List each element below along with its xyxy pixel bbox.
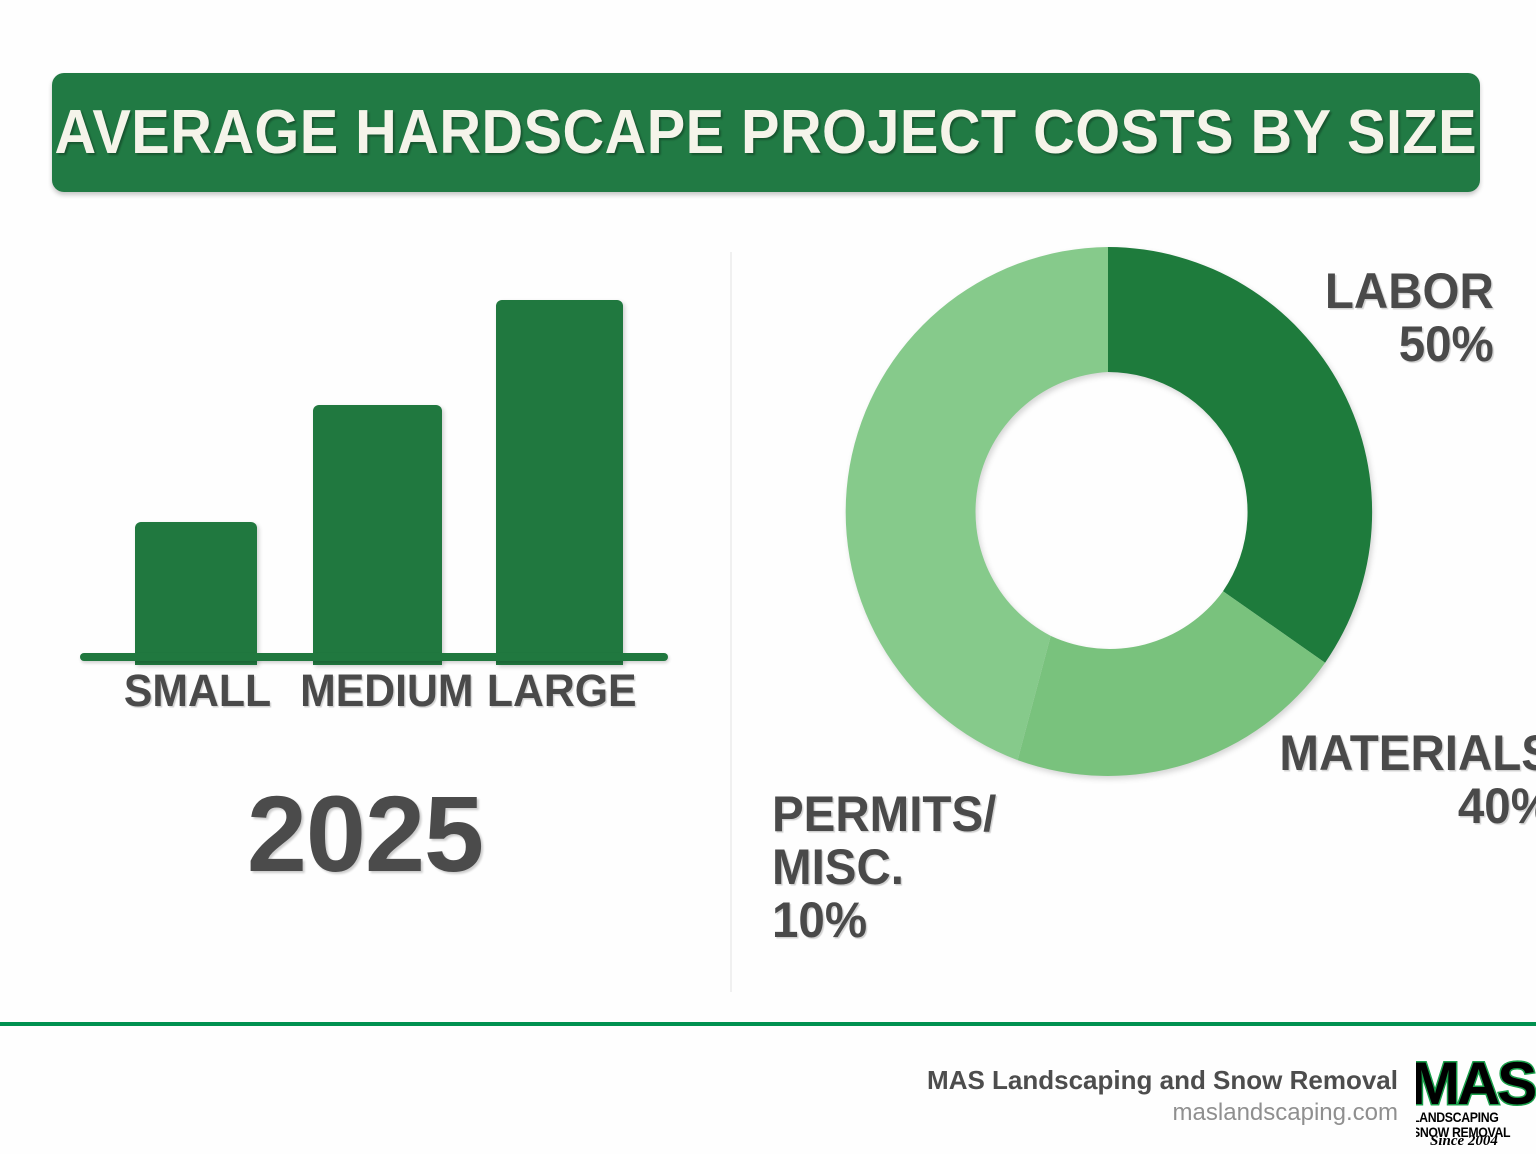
donut-label-materials: MATERIALS 40%	[1279, 727, 1536, 833]
donut-label-labor-name: LABOR	[1325, 265, 1494, 318]
bar-large	[496, 300, 623, 665]
mas-logo: MAS LANDSCAPING SNOW REMOVAL Since 2004	[1416, 1058, 1536, 1150]
donut-label-permits: PERMITS/ MISC. 10%	[772, 788, 996, 947]
mas-logo-tagline: Since 2004	[1430, 1134, 1498, 1149]
donut-label-materials-value: 40%	[1279, 780, 1536, 833]
donut-label-labor: LABOR 50%	[1325, 265, 1494, 371]
bar-chart-plot	[0, 240, 730, 665]
donut-label-permits-name-line1: PERMITS/	[772, 788, 996, 841]
year-label: 2025	[0, 780, 730, 888]
donut-label-labor-value: 50%	[1325, 318, 1494, 371]
mas-logo-inner: MAS LANDSCAPING SNOW REMOVAL Since 2004	[1416, 1058, 1536, 1150]
donut-label-permits-name-line2: MISC.	[772, 841, 996, 894]
donut-label-materials-name: MATERIALS	[1279, 727, 1536, 780]
donut-label-permits-value: 10%	[772, 894, 996, 947]
bar-small	[135, 522, 257, 665]
page-title: AVERAGE HARDSCAPE PROJECT COSTS BY SIZE	[55, 102, 1478, 164]
footer: MAS Landscaping and Snow Removal masland…	[0, 1026, 1536, 1154]
bar-chart-axis-labels: SMALL MEDIUM LARGE	[0, 668, 730, 728]
bar-chart-baseline	[80, 653, 668, 661]
footer-company-name: MAS Landscaping and Snow Removal	[927, 1064, 1398, 1097]
infographic-canvas: AVERAGE HARDSCAPE PROJECT COSTS BY SIZE …	[0, 0, 1536, 1154]
mas-logo-subtitle-line1: LANDSCAPING	[1416, 1110, 1510, 1125]
donut-chart-panel: LABOR 50% MATERIALS 40% PERMITS/ MISC. 1…	[730, 240, 1536, 1000]
footer-text-block: MAS Landscaping and Snow Removal masland…	[927, 1064, 1398, 1129]
mas-logo-wordmark: MAS	[1416, 1058, 1534, 1114]
donut-chart	[843, 247, 1373, 777]
bar-label-large: LARGE	[487, 668, 634, 713]
bar-label-medium: MEDIUM	[300, 668, 457, 713]
bar-label-small: SMALL	[124, 668, 271, 713]
title-banner: AVERAGE HARDSCAPE PROJECT COSTS BY SIZE	[52, 73, 1480, 192]
bar-chart-panel: SMALL MEDIUM LARGE 2025	[0, 240, 730, 1000]
bar-medium	[313, 405, 442, 665]
footer-website[interactable]: maslandscaping.com	[927, 1097, 1398, 1129]
